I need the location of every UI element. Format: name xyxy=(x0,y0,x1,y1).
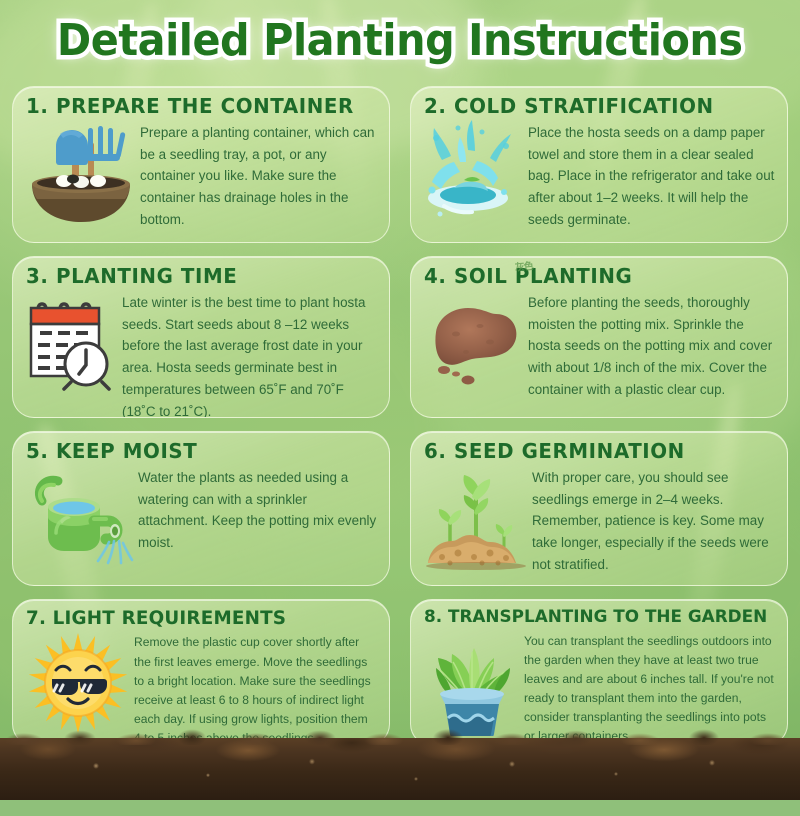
water-splash-icon xyxy=(424,120,524,231)
card-6-heading: 6. SEED GERMINATION xyxy=(424,441,771,462)
instruction-card-3[interactable]: 3. PLANTING TIME xyxy=(12,256,390,418)
card-3-text: Late winter is the best time to plant ho… xyxy=(122,290,377,418)
instruction-card-8[interactable]: 8. TRANSPLANTING TO THE GARDEN xyxy=(410,599,788,746)
card-5-heading: 5. KEEP MOIST xyxy=(26,441,373,462)
title-banner: Detailed Planting Instructions xyxy=(0,4,800,76)
card-4-heading: 4. SOIL PLANTING xyxy=(424,264,632,288)
card-4-text: Before planting the seeds, thoroughly mo… xyxy=(528,290,775,402)
card-2-heading: 2. COLD STRATIFICATION xyxy=(424,96,771,117)
watering-can-icon xyxy=(26,465,134,575)
card-2-text: Place the hosta seeds on a damp paper to… xyxy=(528,120,775,231)
instruction-card-2[interactable]: 2. COLD STRATIFICATION xyxy=(410,86,788,243)
seedlings-in-soil-icon xyxy=(424,465,528,576)
card-7-heading: 7. LIGHT REQUIREMENTS xyxy=(26,609,373,628)
instruction-card-1[interactable]: 1. PREPARE THE CONTAINER xyxy=(12,86,390,243)
card-5-text: Water the plants as needed using a water… xyxy=(138,465,377,575)
instruction-card-7[interactable]: 7. LIGHT REQUIREMENTS xyxy=(12,599,390,746)
soil-blob-icon xyxy=(424,290,524,402)
calendar-with-clock-icon xyxy=(26,290,118,418)
card-1-text: Prepare a planting container, which can … xyxy=(140,120,377,231)
instruction-card-5[interactable]: 5. KEEP MOIST xyxy=(12,431,390,586)
soil-photo-strip xyxy=(0,738,800,800)
card-8-heading: 8. TRANSPLANTING TO THE GARDEN xyxy=(424,609,771,627)
instruction-card-6[interactable]: 6. SEED GERMINATION xyxy=(410,431,788,586)
instruction-card-4[interactable]: 灰色 4. SOIL PLANTING xyxy=(410,256,788,418)
card-3-heading: 3. PLANTING TIME xyxy=(26,266,373,287)
card-4-heading-wrap: 灰色 4. SOIL PLANTING xyxy=(424,266,771,287)
bowl-with-shovel-and-rake-icon xyxy=(26,120,136,231)
instructions-grid: 1. PREPARE THE CONTAINER xyxy=(12,86,788,746)
card-6-text: With proper care, you should see seedlin… xyxy=(532,465,775,576)
page-title: Detailed Planting Instructions xyxy=(57,15,743,66)
card-1-heading: 1. PREPARE THE CONTAINER xyxy=(26,96,373,117)
